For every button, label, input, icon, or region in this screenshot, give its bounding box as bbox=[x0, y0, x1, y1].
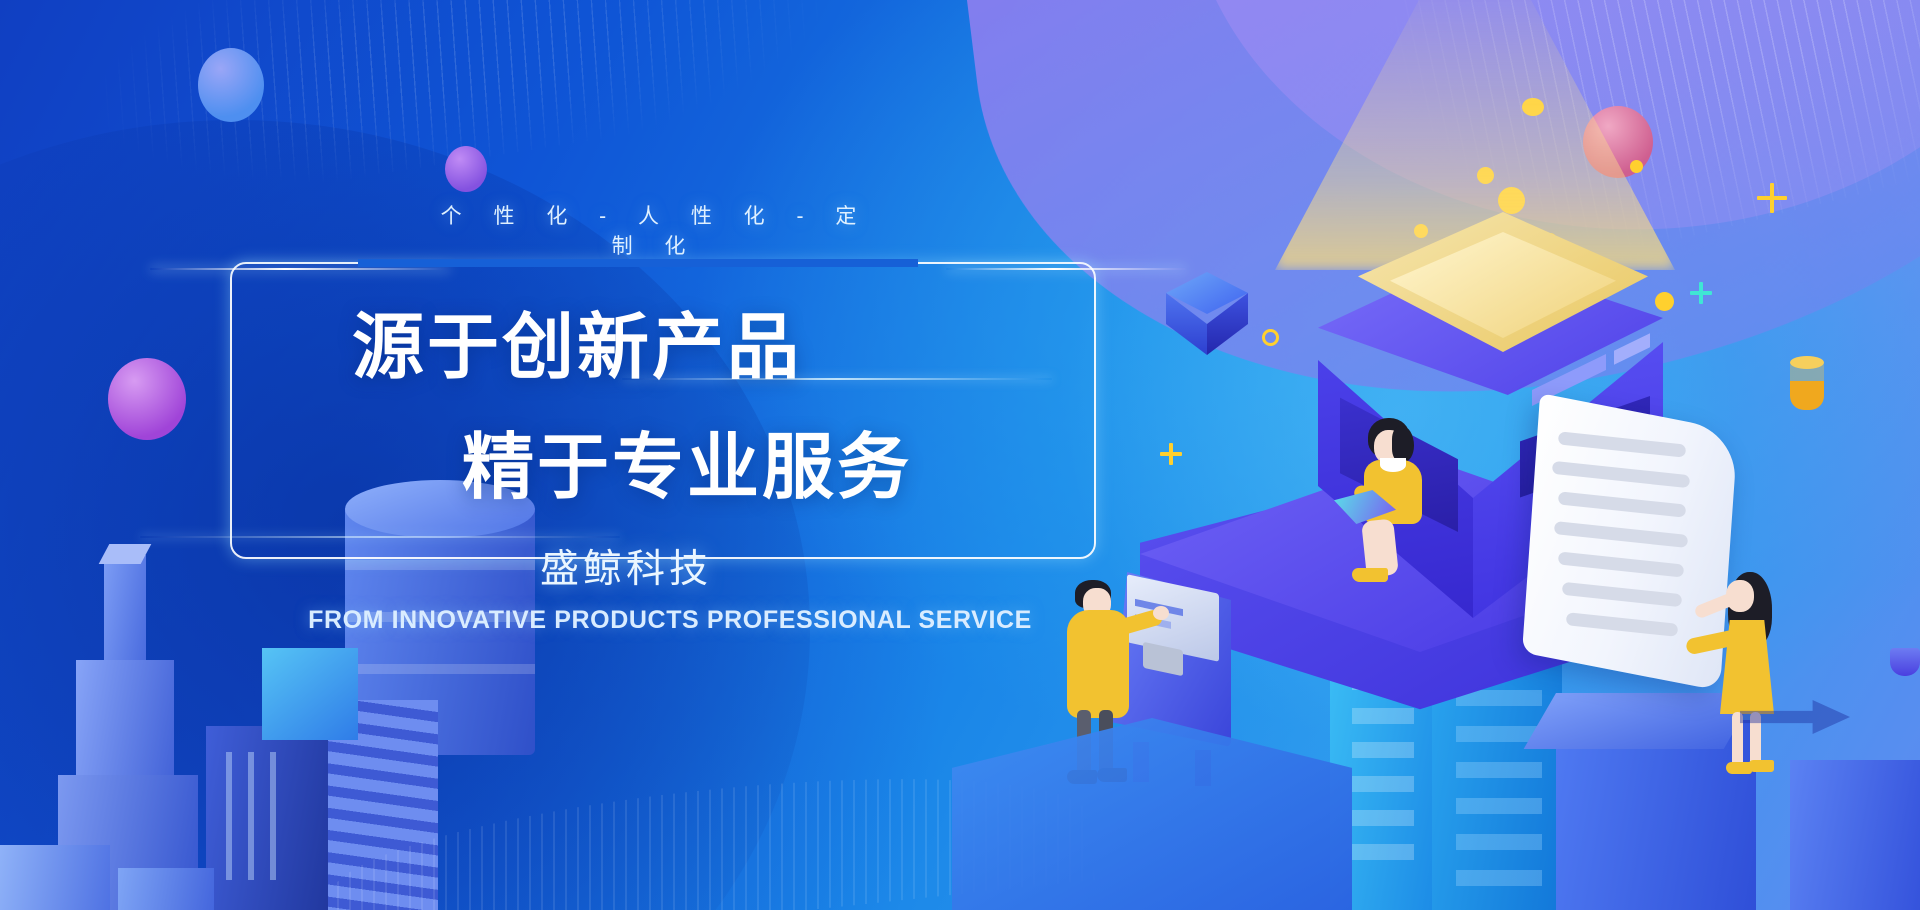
machine-platform bbox=[1140, 470, 1700, 730]
scroll-text-line bbox=[1562, 582, 1683, 607]
kiosk-screen bbox=[1127, 574, 1219, 662]
city-block-right bbox=[1556, 720, 1756, 910]
scroll-text-line bbox=[1566, 612, 1679, 637]
machine-body-right bbox=[1473, 318, 1663, 618]
machine-indicator-bar bbox=[1532, 354, 1606, 406]
yellow-dot bbox=[1630, 160, 1643, 173]
scroll-text-line bbox=[1552, 461, 1691, 488]
figure-head bbox=[1374, 430, 1404, 464]
kiosk-screen-line bbox=[1135, 599, 1183, 616]
machine-indicator-bar bbox=[1614, 333, 1650, 365]
brand-name: 盛鲸科技 bbox=[540, 538, 712, 594]
figure-hair bbox=[1728, 572, 1772, 648]
city-block-far-right bbox=[1790, 760, 1920, 910]
scroll-text-line bbox=[1558, 431, 1687, 457]
standing-woman-holding-paper bbox=[1700, 572, 1810, 772]
violet-wave-secondary bbox=[1157, 0, 1920, 268]
headline-line-1: 源于创新产品 bbox=[352, 288, 802, 393]
kiosk-leg bbox=[1133, 742, 1149, 782]
figure-shoe bbox=[1748, 760, 1774, 772]
yellow-dot bbox=[1655, 292, 1674, 311]
figure-collar bbox=[1380, 458, 1406, 472]
figure-hand bbox=[1153, 606, 1169, 620]
golden-tray-inner bbox=[1390, 232, 1616, 338]
top-light-streak-left bbox=[150, 268, 450, 270]
laptop bbox=[1334, 490, 1396, 524]
cube-left-face bbox=[1166, 293, 1207, 355]
figure-hair-side bbox=[1392, 426, 1414, 462]
machine-output-slot bbox=[1520, 396, 1650, 504]
pink-sphere-orb bbox=[1583, 106, 1653, 178]
kiosk-body bbox=[1113, 572, 1231, 747]
cyan-plus-icon bbox=[1690, 282, 1712, 304]
figure-hair bbox=[1368, 418, 1410, 458]
figure-arm-lower bbox=[1685, 629, 1741, 656]
figure-shoe bbox=[1352, 568, 1388, 582]
hero-text-block: 个 性 化 - 人 性 化 - 定 制 化 源于创新产品 精于专业服务 盛鲸科技… bbox=[0, 0, 1120, 910]
kiosk-screen-line bbox=[1135, 614, 1171, 629]
yellow-dot bbox=[1464, 281, 1490, 307]
purple-cylinder bbox=[1890, 648, 1920, 676]
machine-platform-top bbox=[1140, 456, 1700, 652]
center-glow bbox=[1020, 60, 1780, 760]
figure-torso bbox=[1364, 460, 1422, 524]
yellow-cylinder-top bbox=[1790, 356, 1824, 369]
figure-arm bbox=[1353, 484, 1399, 506]
city-tower-right-windows bbox=[1352, 660, 1414, 860]
scroll-text-line bbox=[1558, 551, 1685, 577]
city-block-right-top bbox=[1524, 693, 1756, 749]
machine-cavity bbox=[1340, 392, 1458, 532]
wave-line-texture bbox=[1289, 0, 1920, 311]
kiosk-keypad bbox=[1143, 642, 1183, 677]
hero-banner: 个 性 化 - 人 性 化 - 定 制 化 源于创新产品 精于专业服务 盛鲸科技… bbox=[0, 0, 1920, 910]
yellow-dot bbox=[1414, 224, 1428, 238]
figure-arm-raised bbox=[1693, 589, 1742, 619]
kiosk-leg bbox=[1195, 750, 1211, 786]
yellow-dot bbox=[1478, 236, 1511, 269]
printed-document-scroll bbox=[1522, 393, 1738, 691]
purple-cylinder bbox=[1410, 753, 1442, 783]
arrow-marker bbox=[1740, 700, 1850, 734]
figure-leg bbox=[1732, 712, 1743, 768]
cube-right-face bbox=[1207, 293, 1248, 355]
machine-body-left bbox=[1318, 318, 1473, 618]
frame-top-gap-mask bbox=[358, 259, 918, 267]
scroll-text-line bbox=[1554, 521, 1689, 548]
yellow-dot bbox=[1477, 167, 1494, 184]
headline-line-2: 精于专业服务 bbox=[462, 408, 912, 513]
yellow-dot bbox=[1498, 187, 1525, 214]
golden-light-glow bbox=[1275, 0, 1675, 270]
english-subtitle: FROM INNOVATIVE PRODUCTS PROFESSIONAL SE… bbox=[290, 606, 1050, 635]
golden-tray bbox=[1358, 212, 1648, 352]
figure-head bbox=[1726, 580, 1754, 612]
city-tower-right-2-windows bbox=[1456, 650, 1542, 886]
machine-body-top bbox=[1318, 255, 1663, 395]
yellow-dot bbox=[1503, 283, 1518, 298]
city-tower-right bbox=[1330, 640, 1435, 910]
tagline: 个 性 化 - 人 性 化 - 定 制 化 bbox=[415, 200, 895, 260]
cube-top-face bbox=[1166, 272, 1248, 314]
yellow-dot bbox=[1543, 233, 1557, 247]
figure-leg bbox=[1750, 712, 1761, 768]
purple-cylinder bbox=[1410, 746, 1442, 759]
figure-shoe bbox=[1726, 762, 1752, 774]
seated-woman-with-laptop bbox=[1340, 418, 1460, 588]
figure-dress bbox=[1720, 620, 1774, 714]
yellow-cylinder bbox=[1790, 362, 1824, 410]
yellow-plus-icon-small bbox=[1160, 443, 1182, 465]
scroll-text-line bbox=[1558, 491, 1687, 517]
yellow-ring-icon bbox=[1262, 329, 1279, 346]
yellow-dot bbox=[1522, 98, 1544, 116]
yellow-plus-icon bbox=[1757, 183, 1787, 213]
machine-tray-rim bbox=[1346, 250, 1660, 398]
top-light-streak-right bbox=[946, 268, 1186, 270]
figure-legs bbox=[1361, 518, 1399, 577]
floating-cube bbox=[1166, 272, 1248, 362]
city-tower-right-2 bbox=[1432, 612, 1562, 910]
